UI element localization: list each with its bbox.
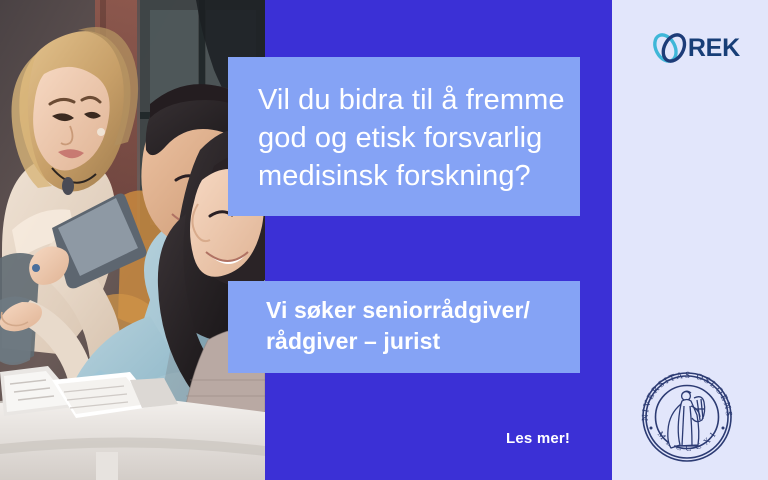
job-title-line-2: rådgiver – jurist [266,326,560,357]
read-more-link[interactable]: Les mer! [506,430,570,447]
headline-line-3: medisinsk forskning? [258,157,554,195]
headline-box: Vil du bidra til å fremme god og etisk f… [228,57,580,216]
rek-wordmark: REK [688,34,740,63]
team-collaboration-photo [0,0,265,480]
rek-interlocking-ellipses-icon [648,26,692,70]
recruitment-banner: Vil du bidra til å fremme god og etisk f… [0,0,768,480]
uio-seal: UNIVERSITAS OSLOENSIS M D C C C X I [632,362,742,472]
headline-line-1: Vil du bidra til å fremme [258,81,554,119]
job-title-line-1: Vi søker seniorrådgiver/ [266,295,560,326]
job-title-box: Vi søker seniorrådgiver/ rådgiver – juri… [228,281,580,373]
headline-line-2: god og etisk forsvarlig [258,119,554,157]
rek-logo[interactable]: REK [648,26,740,70]
